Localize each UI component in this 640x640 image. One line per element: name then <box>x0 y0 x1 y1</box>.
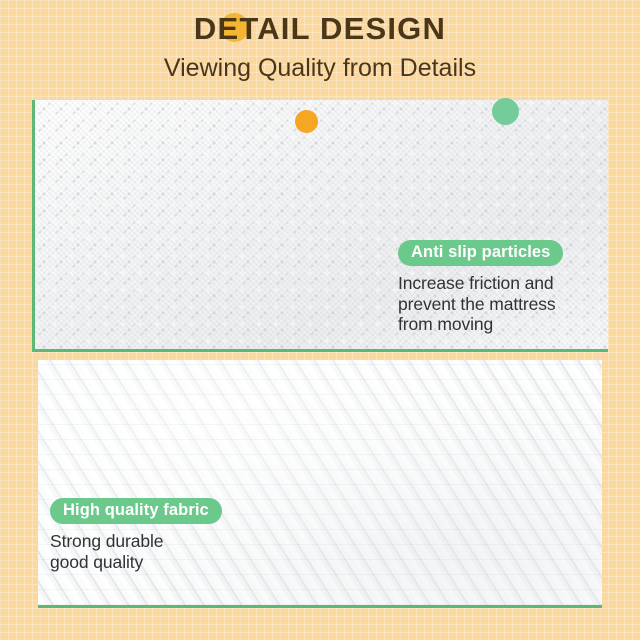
badge-anti-slip-particles: Anti slip particles <box>398 240 563 266</box>
description-anti-slip: Increase friction and prevent the mattre… <box>398 273 598 334</box>
page-title: DETAIL DESIGN <box>194 11 446 46</box>
orange-dot-decoration <box>295 110 318 133</box>
green-dot-decoration <box>492 98 519 125</box>
callout-anti-slip: Anti slip particles Increase friction an… <box>398 240 598 335</box>
detail-design-page: DETAIL DESIGN Viewing Quality from Detai… <box>0 0 640 640</box>
badge-high-quality-fabric: High quality fabric <box>50 498 222 524</box>
page-subtitle: Viewing Quality from Details <box>164 54 476 82</box>
subtitle-row: Viewing Quality from Details <box>0 50 640 86</box>
callout-high-quality-fabric: High quality fabric Strong durable good … <box>50 498 280 572</box>
title-row: DETAIL DESIGN <box>0 8 640 50</box>
header: DETAIL DESIGN Viewing Quality from Detai… <box>0 8 640 86</box>
description-high-quality-fabric: Strong durable good quality <box>50 531 280 572</box>
